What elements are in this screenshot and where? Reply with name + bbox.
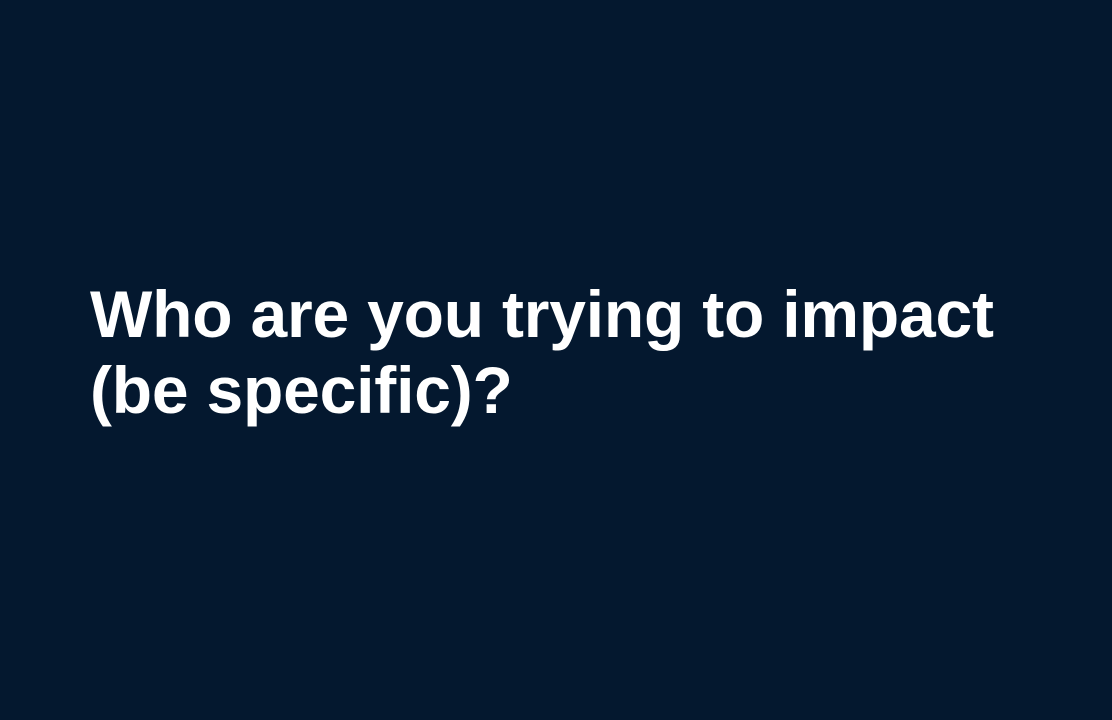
headline-line-1: Who are you trying to impact bbox=[90, 276, 1030, 352]
headline-line-2: (be specific)? bbox=[90, 352, 1030, 428]
slide-canvas: Who are you trying to impact (be specifi… bbox=[0, 0, 1112, 720]
headline-block: Who are you trying to impact (be specifi… bbox=[90, 276, 1030, 428]
